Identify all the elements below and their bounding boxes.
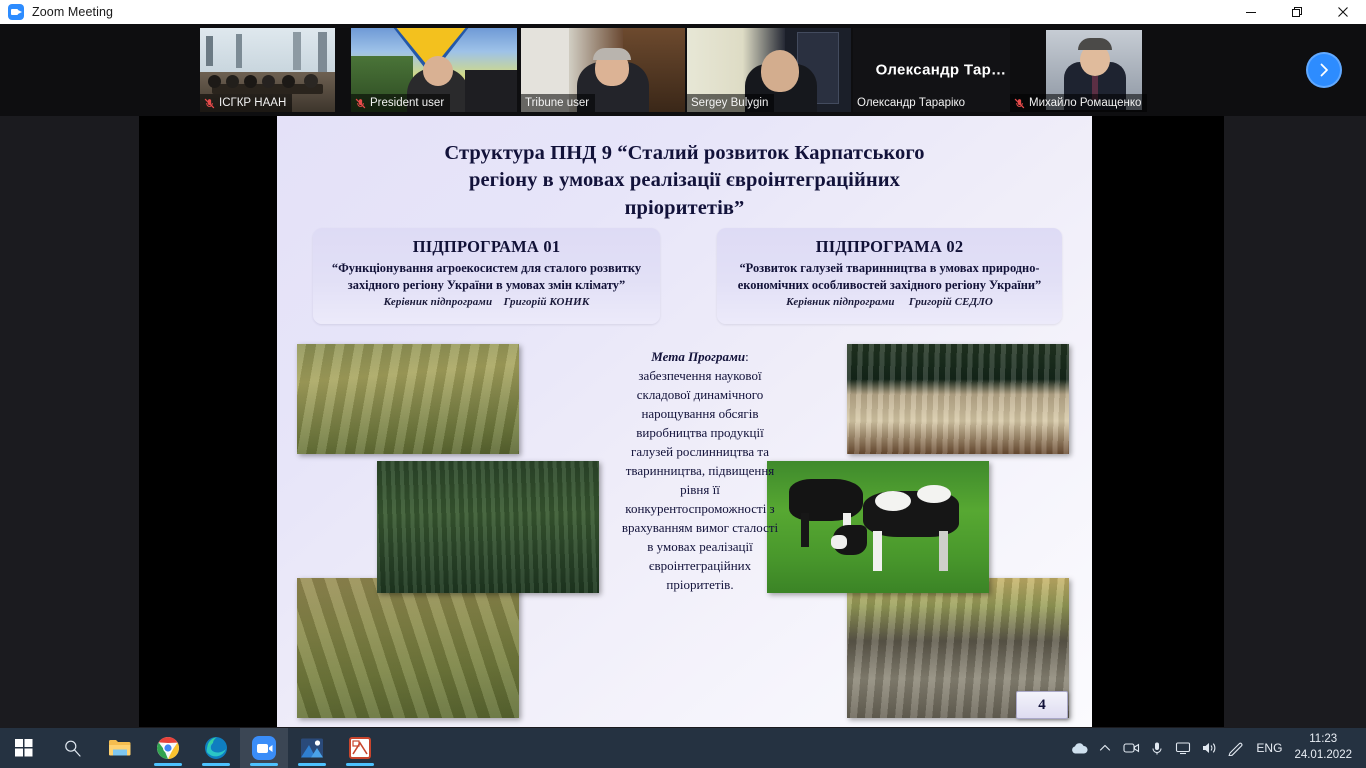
subprogram-01-heading: ПІДПРОГРАМА 01 (313, 237, 660, 257)
subprogram-01-description: “Функціонування агроекосистем для сталог… (313, 260, 660, 293)
participant-tile[interactable]: President user (351, 28, 517, 112)
window-titlebar: Zoom Meeting (0, 0, 1366, 24)
microphone-icon[interactable] (1144, 728, 1170, 768)
system-tray: ENG 11:23 24.01.2022 (1066, 728, 1366, 768)
photo-crop-field-green (377, 461, 599, 593)
photo-geese-flock (847, 344, 1069, 454)
powerpoint-icon (349, 737, 371, 759)
participant-tile[interactable]: Sergey Bulygin (687, 28, 851, 112)
close-icon[interactable] (1320, 0, 1366, 24)
participant-name: Олександр Тараріко (857, 97, 965, 109)
subprogram-01-box: ПІДПРОГРАМА 01 “Функціонування агроекоси… (313, 228, 660, 324)
input-language[interactable]: ENG (1248, 741, 1290, 755)
onedrive-cloud-icon[interactable] (1066, 728, 1092, 768)
participant-name: Михайло Ромащенко (1029, 97, 1141, 109)
window-title: Zoom Meeting (32, 5, 113, 19)
subprogram-02-lead-label: Керівник підпрограми (786, 296, 895, 308)
participant-name: Tribune user (525, 97, 589, 109)
photos-icon (300, 737, 324, 759)
folder-icon (108, 737, 132, 759)
microsoft-edge[interactable] (192, 728, 240, 768)
subprogram-02-description: “Розвиток галузей тваринництва в умовах … (717, 260, 1062, 293)
windows-start-icon (15, 739, 33, 757)
subprogram-02-box: ПІДПРОГРАМА 02 “Розвиток галузей тваринн… (717, 228, 1062, 324)
mute-icon (204, 98, 215, 109)
windows-taskbar: ENG 11:23 24.01.2022 (0, 728, 1366, 768)
camera-icon[interactable] (1118, 728, 1144, 768)
minimize-icon[interactable] (1228, 0, 1274, 24)
zoom-video-icon (8, 4, 24, 20)
slide-number: 4 (1016, 691, 1068, 719)
participant-name-badge: Олександр Тараріко (853, 94, 971, 112)
participant-tile[interactable]: Tribune user (521, 28, 685, 112)
photos[interactable] (288, 728, 336, 768)
photo-dairy-cows (767, 461, 989, 593)
mute-icon (355, 98, 366, 109)
slide-title-line: пріоритетів” (307, 195, 1062, 222)
file-explorer[interactable] (96, 728, 144, 768)
participant-tile[interactable]: Олександр Тар… Олександр Тараріко (853, 28, 1029, 112)
participant-tile[interactable]: ІСГКР НААН (200, 28, 335, 112)
participant-filmstrip: ІСГКР НААН President user (0, 24, 1366, 116)
filmstrip-next-button[interactable] (1306, 52, 1342, 88)
shared-screen-stage: Структура ПНД 9 “Сталий розвиток Карпатс… (139, 116, 1224, 727)
clock[interactable]: 11:23 24.01.2022 (1290, 732, 1362, 763)
display-icon[interactable] (1170, 728, 1196, 768)
zoom[interactable] (240, 728, 288, 768)
volume-icon[interactable] (1196, 728, 1222, 768)
participant-tile[interactable]: Михайло Ромащенко (1010, 28, 1180, 112)
participant-name: Sergey Bulygin (691, 97, 768, 109)
photo-crop-field-golden (297, 344, 519, 454)
participant-name: President user (370, 97, 444, 109)
photo-crop-field-rows (297, 578, 519, 718)
participant-name-badge: Михайло Ромащенко (1010, 94, 1147, 112)
program-goal-text: Мета Програми: забезпечення наукової скл… (619, 348, 781, 595)
maximize-icon[interactable] (1274, 0, 1320, 24)
mute-icon (1014, 98, 1025, 109)
clock-time: 11:23 (1294, 732, 1352, 748)
pen-icon[interactable] (1222, 728, 1248, 768)
desktop: Zoom Meeting (0, 0, 1366, 768)
subprogram-01-lead-name: Григорій КОНИК (504, 296, 590, 308)
participant-display-name: Олександр Тар… (853, 62, 1029, 79)
subprogram-02-heading: ПІДПРОГРАМА 02 (717, 237, 1062, 257)
show-hidden-icons-chevron[interactable] (1092, 728, 1118, 768)
chevron-right-icon (1315, 61, 1333, 79)
search-icon (63, 739, 82, 758)
program-goal-label: Мета Програми (651, 349, 745, 364)
window-controls (1228, 0, 1366, 24)
zoom-meeting-window: ІСГКР НААН President user (0, 24, 1366, 728)
participant-name-badge: President user (351, 94, 450, 112)
slide-title-line: Структура ПНД 9 “Сталий розвиток Карпатс… (307, 140, 1062, 167)
participant-name: ІСГКР НААН (219, 97, 286, 109)
slide-title-line: регіону в умовах реалізації євроінтеграц… (307, 167, 1062, 194)
subprogram-01-lead-label: Керівник підпрограми (384, 296, 493, 308)
program-goal-body: : забезпечення наукової складової динамі… (622, 349, 778, 592)
subprogram-01-lead: Керівник підпрограми Григорій КОНИК (313, 296, 660, 308)
subprogram-02-lead-name: Григорій СЕДЛО (909, 296, 993, 308)
google-chrome[interactable] (144, 728, 192, 768)
start-button[interactable] (0, 728, 48, 768)
chrome-icon (156, 736, 180, 760)
search-button[interactable] (48, 728, 96, 768)
edge-icon (204, 736, 228, 760)
clock-date: 24.01.2022 (1294, 748, 1352, 764)
slide-title: Структура ПНД 9 “Сталий розвиток Карпатс… (307, 140, 1062, 222)
presentation-slide: Структура ПНД 9 “Сталий розвиток Карпатс… (277, 116, 1092, 727)
powerpoint[interactable] (336, 728, 384, 768)
zoom-icon (251, 735, 277, 761)
participant-name-badge: ІСГКР НААН (200, 94, 292, 112)
participant-name-badge: Sergey Bulygin (687, 94, 774, 112)
subprogram-02-lead: Керівник підпрограми Григорій СЕДЛО (717, 296, 1062, 308)
participant-name-badge: Tribune user (521, 94, 595, 112)
